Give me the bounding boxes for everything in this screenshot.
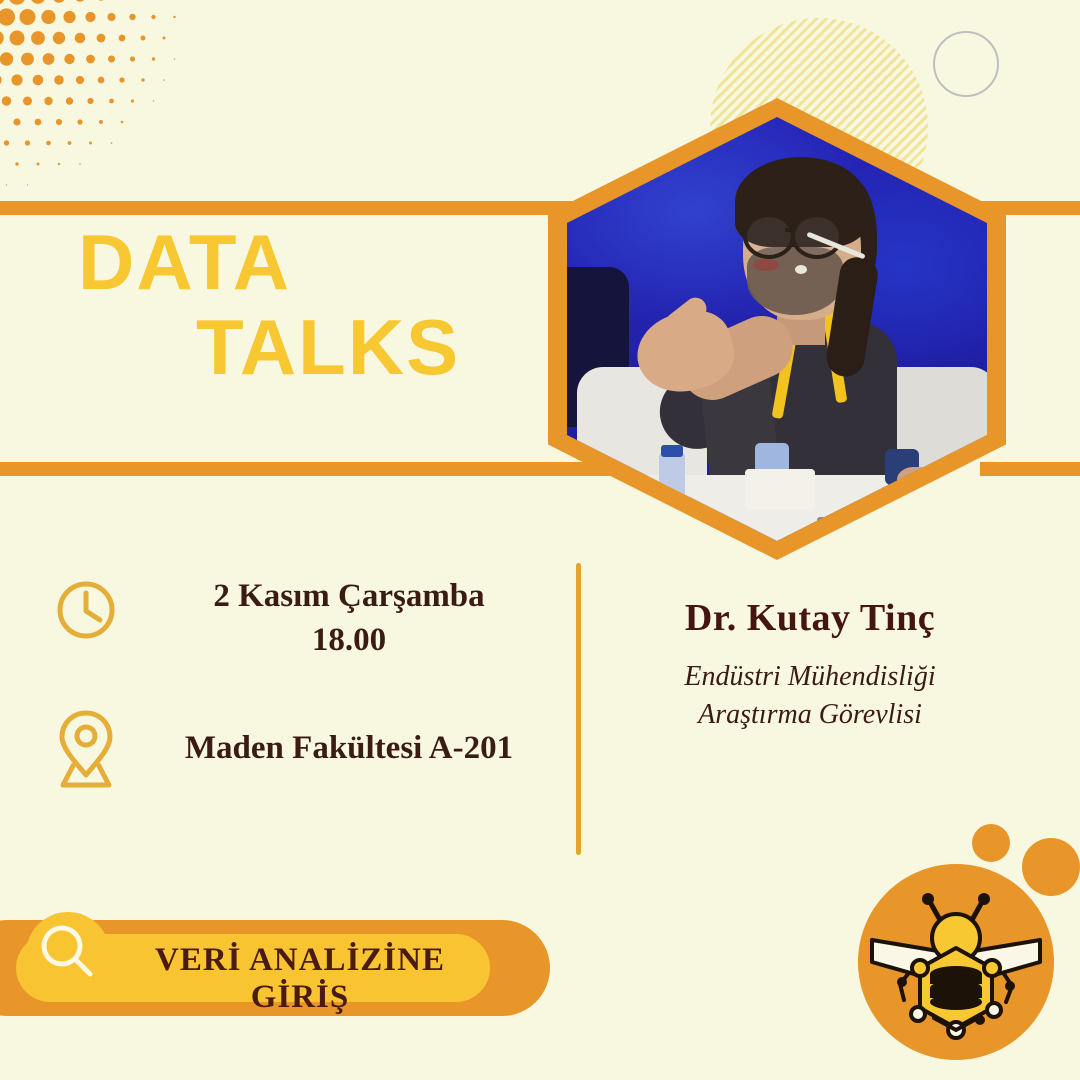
- halftone-svg: [0, 0, 300, 215]
- bee-data-logo-svg: [856, 862, 1056, 1062]
- clock-icon-svg: [55, 579, 117, 641]
- event-date-row: 2 Kasım Çarşamba 18.00: [0, 575, 560, 663]
- speaker-title-line2: Araştırma Görevlisi: [600, 696, 1020, 734]
- cta-label: VERİ ANALİZİNE GİRİŞ: [110, 942, 490, 1016]
- event-location-text: Maden Fakültesi A-201: [138, 703, 560, 771]
- location-pin-icon-svg: [53, 707, 119, 789]
- search-icon: [26, 912, 110, 996]
- photo-glasses-bridge: [785, 228, 795, 232]
- cta-icon-knob: [26, 912, 110, 996]
- location-pin-icon: [34, 703, 138, 789]
- bottom-bar-left: [0, 462, 610, 476]
- photo-name-card: [745, 469, 815, 509]
- top-bar-left: [0, 201, 610, 215]
- photo-headset-mic: [795, 265, 807, 274]
- logo-dot-small: [972, 824, 1010, 862]
- event-date-text: 2 Kasım Çarşamba 18.00: [138, 575, 560, 663]
- event-location-row: Maden Fakültesi A-201: [0, 703, 560, 789]
- event-info: 2 Kasım Çarşamba 18.00 Maden Fakültesi A…: [0, 575, 560, 789]
- bee-data-logo: [856, 862, 1056, 1062]
- photo-glasses-left: [743, 213, 795, 259]
- speaker-title: Endüstri Mühendisliği Araştırma Görevlis…: [600, 658, 1020, 734]
- event-date-line1: 2 Kasım Çarşamba: [138, 575, 560, 619]
- halftone-dots-decoration: [0, 0, 300, 215]
- cta-button[interactable]: VERİ ANALİZİNE GİRİŞ: [0, 920, 550, 1016]
- photo-bottle-cap: [661, 445, 683, 457]
- event-poster: DATA TALKS 2 Kasım Çarşamba 18.00: [0, 0, 1080, 1080]
- speaker-title-line1: Endüstri Mühendisliği: [600, 658, 1020, 696]
- poster-title: DATA TALKS: [0, 225, 520, 385]
- clock-icon: [34, 575, 138, 641]
- title-line-2: TALKS: [0, 310, 520, 385]
- vertical-divider: [576, 563, 581, 855]
- speaker-name: Dr. Kutay Tinç: [600, 598, 1020, 640]
- speaker-info: Dr. Kutay Tinç Endüstri Mühendisliği Ara…: [600, 598, 1020, 733]
- title-line-1: DATA: [0, 225, 520, 300]
- photo-mouth: [753, 259, 779, 271]
- event-date-line2: 18.00: [138, 619, 560, 663]
- speaker-photo-hexagon: [548, 98, 1006, 560]
- outline-circle-decoration: [933, 31, 999, 97]
